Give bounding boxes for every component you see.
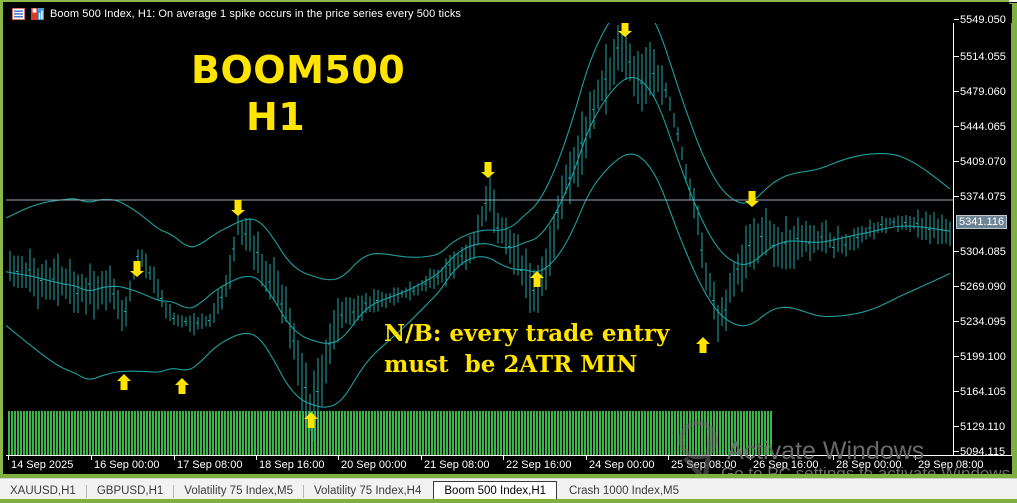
time-label: 25 Sep 08:00 [671,459,736,471]
time-label: 29 Sep 08:00 [918,459,983,471]
time-label: 21 Sep 08:00 [424,459,489,471]
buy-arrow-icon [117,374,131,390]
buy-arrow-icon [175,378,189,394]
sell-arrow-icon [745,191,759,207]
sell-arrow-icon [231,200,245,216]
price-label: 5164.105 [954,386,1006,398]
chart-save-icon [31,8,44,20]
time-scale[interactable]: 14 Sep 2025 16 Sep 00:00 17 Sep 08:00 18… [6,455,1012,474]
time-label: 17 Sep 08:00 [177,459,242,471]
chart-titlebar: Boom 500 Index, H1: On average 1 spike o… [6,4,1012,23]
price-label: 5374.075 [954,191,1006,203]
window-bottom-edge [0,499,1017,503]
time-label: 26 Sep 16:00 [753,459,818,471]
price-label: 5409.070 [954,156,1006,168]
time-label: 20 Sep 00:00 [341,459,406,471]
price-label: 5269.090 [954,281,1006,293]
buy-arrow-icon [696,337,710,353]
time-label: 18 Sep 16:00 [259,459,324,471]
price-label: 5514.055 [954,51,1006,63]
bollinger-middle-band [6,78,950,344]
headline-line-2: H1 [246,98,305,136]
price-label: 5444.065 [954,121,1006,133]
price-label: 5234.095 [954,316,1006,328]
time-label: 28 Sep 00:00 [836,459,901,471]
tab-gbpusd-h1[interactable]: GBPUSD,H1 [87,482,173,500]
price-label: 5129.110 [954,421,1005,433]
chart-plot-area[interactable]: BOOM500 H1 N/B: every trade entry must b… [6,23,953,455]
time-label: 14 Sep 2025 [11,459,73,471]
time-label: 16 Sep 00:00 [94,459,159,471]
tab-xauusd-h1[interactable]: XAUUSD,H1 [0,482,86,500]
price-scale[interactable]: 5549.050 5514.055 5479.060 5444.065 5409… [953,23,1011,455]
sell-arrow-icon [618,23,632,37]
price-label: 5304.085 [954,246,1006,258]
volume-bars [8,411,772,455]
price-chart-svg [6,23,953,455]
chart-title: Boom 500 Index, H1: On average 1 spike o… [50,8,461,20]
price-label: 5549.050 [954,14,1006,26]
chart-window: Boom 500 Index, H1: On average 1 spike o… [0,0,1009,474]
time-label: 22 Sep 16:00 [506,459,571,471]
tab-boom-500-h1[interactable]: Boom 500 Index,H1 [433,481,557,501]
time-label: 24 Sep 00:00 [589,459,654,471]
note-line-2: must be 2ATR MIN [384,350,637,380]
data-window-icon [12,8,25,20]
tab-crash-1000-m5[interactable]: Crash 1000 Index,M5 [559,482,689,500]
price-label: 5479.060 [954,86,1006,98]
mt-terminal-window: Boom 500 Index, H1: On average 1 spike o… [0,0,1017,503]
tab-volatility-75-m5[interactable]: Volatility 75 Index,M5 [174,482,303,500]
current-price-label: 5341.116 [956,215,1007,229]
headline-line-1: BOOM500 [191,51,405,89]
sell-arrow-icon [481,162,495,178]
note-line-1: N/B: every trade entry [384,319,669,349]
tab-volatility-75-h4[interactable]: Volatility 75 Index,H4 [304,482,431,500]
price-label: 5199.100 [954,351,1006,363]
